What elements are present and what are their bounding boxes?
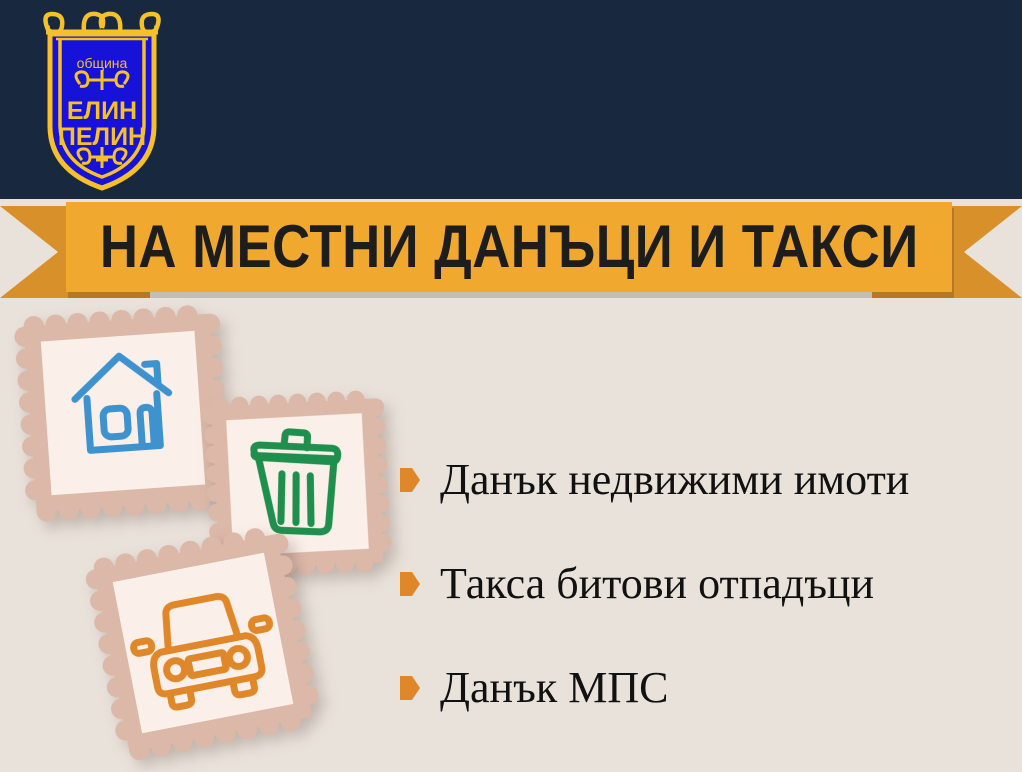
- arrow-bullet-icon: [400, 468, 420, 492]
- list-item-label: Данък МПС: [440, 663, 668, 713]
- list-item-label: Данък недвижими имоти: [440, 455, 909, 505]
- arrow-bullet-icon: [400, 572, 420, 596]
- ribbon-label: НА МЕСТНИ ДАНЪЦИ И ТАКСИ: [100, 217, 919, 277]
- ribbon-banner: НА МЕСТНИ ДАНЪЦИ И ТАКСИ: [0, 196, 1022, 306]
- logo-line-two: ПЕЛИН: [58, 123, 146, 151]
- list-item[interactable]: Данък МПС: [400, 636, 1010, 740]
- poster-canvas: ПРОВЕРКА И ПЛАЩАНЕ НА ЗАДЪЛЖЕНИЯ община: [0, 0, 1022, 772]
- list-item[interactable]: Такса битови отпадъци: [400, 532, 1010, 636]
- list-item[interactable]: Данък недвижими имоти: [400, 428, 1010, 532]
- municipality-logo: община ЕЛИН ПЕЛИН: [22, 8, 182, 193]
- ribbon-band: НА МЕСТНИ ДАНЪЦИ И ТАКСИ: [66, 202, 952, 292]
- list-item-label: Такса битови отпадъци: [440, 559, 874, 609]
- logo-line-one: ЕЛИН: [67, 97, 137, 125]
- tax-type-list: Данък недвижими имоти Такса битови отпад…: [400, 428, 1010, 740]
- arrow-bullet-icon: [400, 676, 420, 700]
- logo-subtitle: община: [77, 55, 128, 71]
- vehicle-stamp: [80, 520, 326, 766]
